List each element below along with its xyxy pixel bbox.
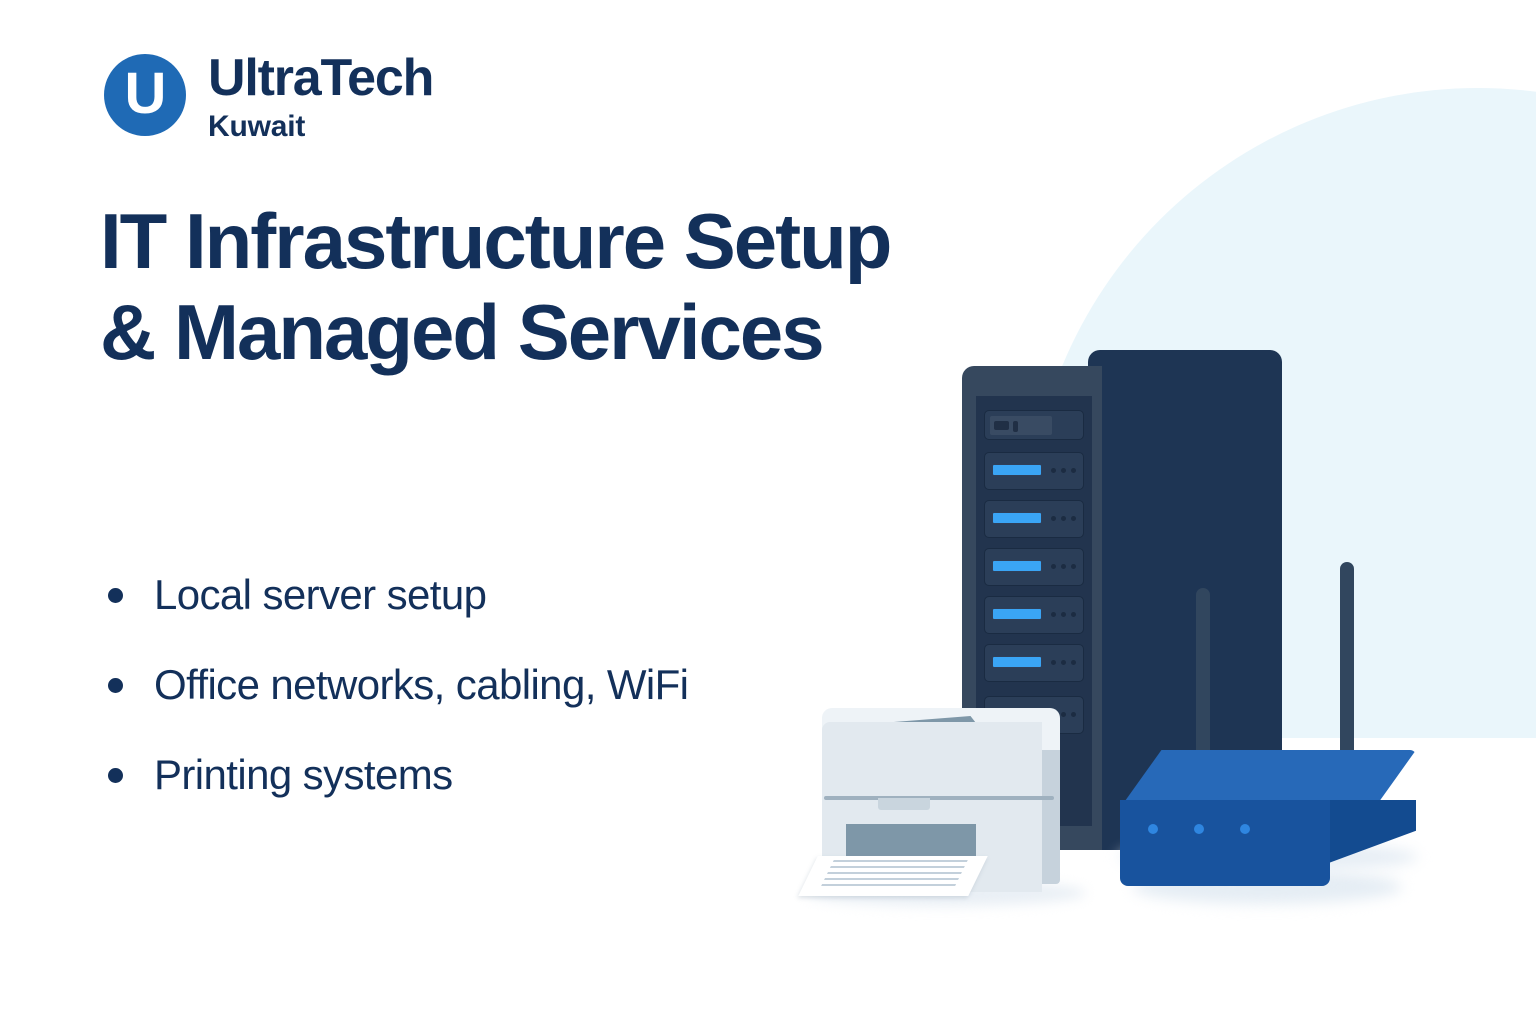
- poster-canvas: U UltraTech Kuwait IT Infrastructure Set…: [0, 0, 1536, 1024]
- server-led-bar: [992, 464, 1042, 476]
- wifi-router-icon: [1108, 562, 1438, 892]
- server-display-bay: [984, 410, 1084, 440]
- server-drive-bay: [984, 548, 1084, 586]
- ultratech-logo-icon: U: [104, 54, 186, 136]
- server-drive-bay: [984, 644, 1084, 682]
- bullet-dot-icon: [108, 588, 123, 603]
- list-item-label: Office networks, cabling, WiFi: [154, 662, 688, 708]
- brand-region: Kuwait: [208, 109, 433, 145]
- server-status-dots: [1051, 468, 1076, 473]
- brand-text-block: UltraTech Kuwait: [208, 52, 433, 145]
- printer-seam-line: [824, 796, 1054, 800]
- router-antenna-right: [1340, 562, 1354, 780]
- list-item-label: Local server setup: [154, 572, 486, 618]
- server-drive-bay: [984, 596, 1084, 634]
- server-drive-bay: [984, 500, 1084, 538]
- server-status-dots: [1051, 660, 1076, 665]
- printer-icon: [800, 700, 1100, 900]
- server-status-dots: [1051, 516, 1076, 521]
- brand-lockup: U UltraTech Kuwait: [104, 52, 433, 145]
- list-item-label: Printing systems: [154, 752, 453, 798]
- router-status-leds: [1148, 824, 1250, 834]
- server-led-bar: [992, 560, 1042, 572]
- server-button-a-icon: [994, 421, 1009, 430]
- router-front-face: [1120, 800, 1330, 886]
- server-led-bar: [992, 656, 1042, 668]
- server-status-dots: [1051, 612, 1076, 617]
- bullet-dot-icon: [108, 768, 123, 783]
- server-led-bar: [992, 608, 1042, 620]
- server-led-bar: [992, 512, 1042, 524]
- server-button-b-icon: [1013, 421, 1018, 432]
- printer-handle: [878, 798, 930, 810]
- server-drive-bay: [984, 452, 1084, 490]
- printed-page: [798, 856, 988, 896]
- router-antenna-left: [1196, 588, 1210, 778]
- server-status-dots: [1051, 564, 1076, 569]
- brand-name: UltraTech: [208, 52, 433, 105]
- logo-letter: U: [125, 65, 166, 123]
- bullet-dot-icon: [108, 678, 123, 693]
- hardware-illustration: [780, 300, 1500, 940]
